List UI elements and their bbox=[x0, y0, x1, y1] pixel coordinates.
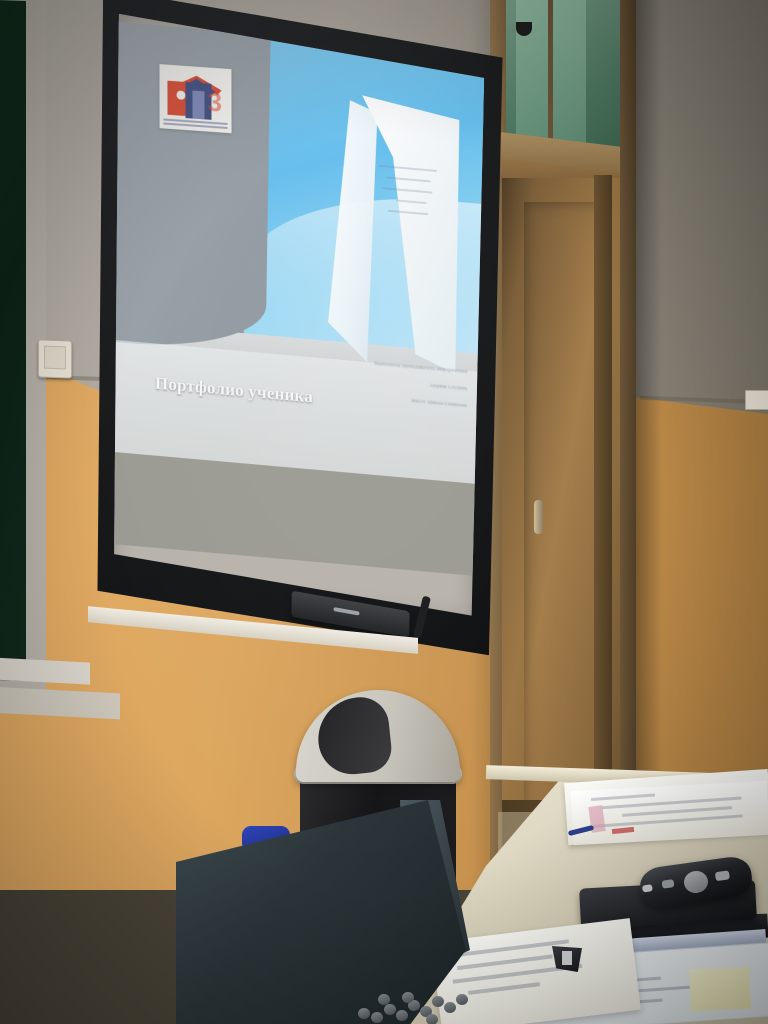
slide-paper-text-lines bbox=[377, 165, 449, 291]
grey-bead bbox=[402, 992, 414, 1003]
remote-button-right[interactable] bbox=[715, 870, 730, 881]
chalkboard bbox=[0, 0, 26, 681]
grey-bead bbox=[396, 1010, 408, 1021]
grey-bead bbox=[426, 1014, 438, 1024]
grey-bead bbox=[371, 1012, 383, 1023]
yellow-note[interactable] bbox=[689, 966, 751, 1011]
door-transom-mullion bbox=[548, 0, 553, 150]
grey-bead bbox=[358, 1008, 370, 1019]
chalk-tray bbox=[0, 657, 90, 684]
binder-clip-icon[interactable] bbox=[552, 946, 582, 972]
pen-tray-indicator bbox=[333, 607, 359, 616]
logo-caption-lines bbox=[164, 118, 228, 129]
presentation-slide: Портфолио ученика Выполнила преподавател… bbox=[110, 22, 484, 574]
whiteboard-screen[interactable]: Портфолио ученика Выполнила преподавател… bbox=[109, 14, 484, 624]
grey-bead bbox=[432, 996, 444, 1007]
grey-bead bbox=[384, 1004, 396, 1015]
door-handle[interactable] bbox=[534, 500, 543, 534]
door-shadow bbox=[636, 0, 662, 880]
wall-plate bbox=[745, 390, 768, 410]
classroom-photo: SMART Board Портфолио ученика Выполнила … bbox=[0, 0, 768, 1024]
doorway bbox=[490, 0, 670, 880]
grey-bead bbox=[456, 994, 468, 1005]
light-switch-rocker[interactable] bbox=[44, 346, 66, 370]
light-switch[interactable] bbox=[38, 339, 72, 378]
grey-beads bbox=[358, 990, 468, 1024]
door-jamb-right bbox=[620, 0, 636, 870]
slide-logo: 3 bbox=[159, 64, 231, 133]
interactive-whiteboard[interactable]: SMART Board Портфолио ученика Выполнила … bbox=[91, 0, 506, 674]
grey-bead bbox=[444, 1002, 456, 1013]
remote-usb-tip bbox=[642, 884, 653, 892]
remote-button-left[interactable] bbox=[661, 879, 674, 889]
remote-center-pad[interactable] bbox=[683, 869, 710, 894]
logo-accent-digit: 3 bbox=[207, 85, 223, 118]
grey-bead bbox=[378, 994, 390, 1005]
